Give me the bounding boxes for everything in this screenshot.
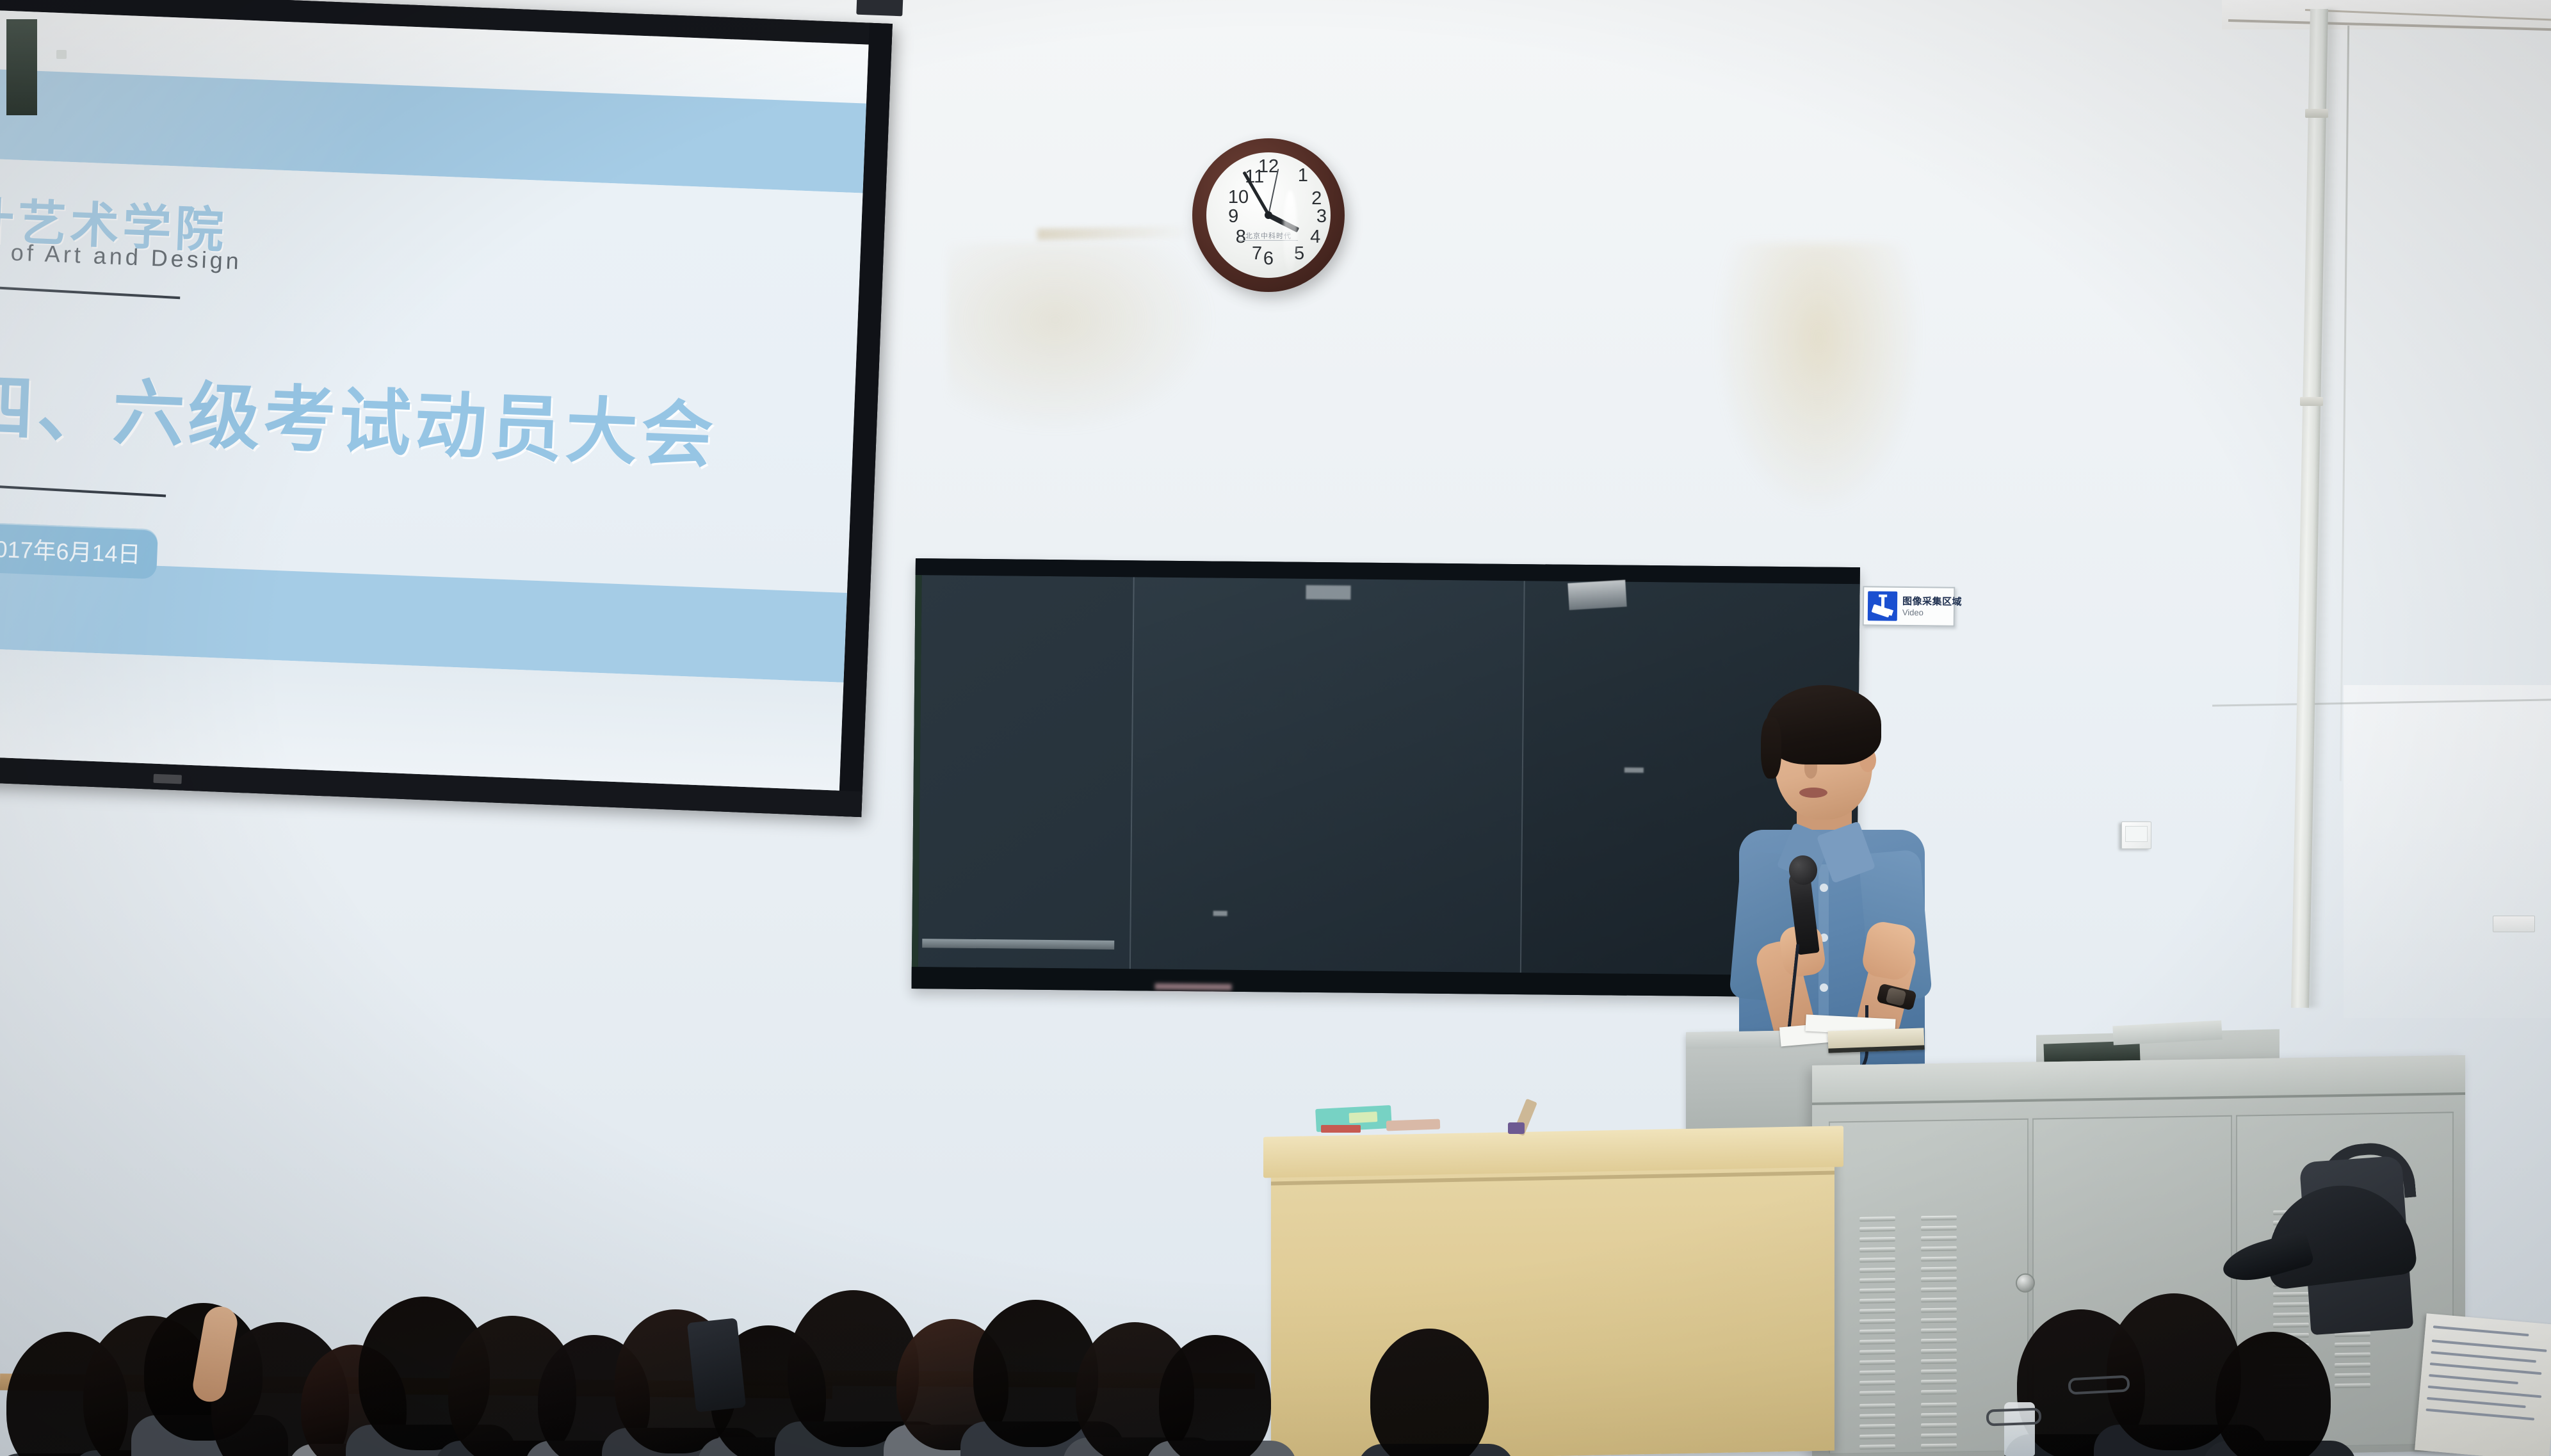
chalk-stick bbox=[1386, 1119, 1441, 1131]
clock-numeral-9: 9 bbox=[1222, 207, 1244, 226]
blackboard-chalk-smudge-c bbox=[1213, 910, 1227, 916]
blue-eraser bbox=[1508, 1122, 1525, 1134]
blackboard-panel-middle[interactable] bbox=[1130, 577, 1524, 973]
eyeglasses-icon-secondary bbox=[1986, 1408, 2042, 1427]
screen-brand-logo bbox=[153, 774, 182, 784]
audience-rows bbox=[0, 1172, 2551, 1456]
speaker-hair-side bbox=[1761, 717, 1781, 779]
blackboard-chalk-smudge-b bbox=[1624, 768, 1644, 773]
speaker-hair bbox=[1766, 685, 1881, 764]
audience-member-head bbox=[1370, 1329, 1489, 1456]
clock-numeral-2: 2 bbox=[1306, 190, 1327, 208]
clock-numeral-7: 7 bbox=[1246, 245, 1268, 263]
projector-screen: 设计艺术学院 School of Art and Design 语四、六级考试动… bbox=[0, 0, 893, 817]
audience-member-head bbox=[1159, 1335, 1271, 1456]
speaker-mouth bbox=[1799, 788, 1827, 798]
podium-open-book bbox=[1827, 1028, 1924, 1053]
clock-numeral-1: 1 bbox=[1292, 166, 1314, 185]
lectern-supplies bbox=[1316, 1103, 1585, 1134]
wall-outlet-face bbox=[2125, 826, 2148, 842]
wall-clock: 12 1 2 3 4 5 6 7 8 9 10 11 北京中科时代 bbox=[1192, 138, 1345, 292]
video-sign-label-en: Video bbox=[1902, 608, 1962, 617]
projected-slide: 设计艺术学院 School of Art and Design 语四、六级考试动… bbox=[0, 9, 869, 791]
wall-panel-patch bbox=[2344, 685, 2551, 1018]
slide-date-badge: 2017年6月14日 bbox=[0, 522, 158, 579]
blackboard-chalk-smudge-a bbox=[1306, 585, 1350, 600]
pipe-clip-lower bbox=[2300, 397, 2323, 406]
mobile-phone[interactable] bbox=[687, 1318, 746, 1412]
red-marker bbox=[1321, 1125, 1361, 1133]
blackboard-tape-patch bbox=[1567, 580, 1626, 610]
blackboard-surface bbox=[918, 575, 1860, 976]
chalk-tray bbox=[922, 939, 1114, 950]
lecture-hall-scene: 设计艺术学院 School of Art and Design 语四、六级考试动… bbox=[0, 0, 2551, 1456]
clock-numeral-10: 10 bbox=[1227, 188, 1249, 207]
pipe-clip-upper bbox=[2305, 109, 2328, 118]
wall-stain bbox=[948, 243, 1217, 435]
handout-sheet bbox=[2415, 1313, 2551, 1456]
av-cabinet-label-plate bbox=[56, 50, 67, 59]
wall-outlet[interactable] bbox=[2121, 821, 2151, 849]
clock-pivot bbox=[1265, 211, 1272, 219]
av-cabinet-left-opening bbox=[6, 19, 37, 115]
clock-numeral-3: 3 bbox=[1311, 207, 1331, 226]
speaker-presenter bbox=[1722, 672, 1940, 1069]
wall-stain-secondary bbox=[1716, 243, 1921, 512]
clock-face: 12 1 2 3 4 5 6 7 8 9 10 11 北京中科时代 bbox=[1206, 152, 1331, 278]
chalk-dust bbox=[1155, 983, 1232, 991]
wall-outlet-right[interactable] bbox=[2493, 916, 2535, 932]
screen-roller-bracket bbox=[856, 0, 903, 16]
video-sign-label-cn: 图像采集区域 bbox=[1902, 596, 1962, 606]
clock-numeral-4: 4 bbox=[1304, 228, 1326, 247]
eyeglasses-icon bbox=[2068, 1375, 2130, 1395]
video-surveillance-sign: 图像采集区域 Video bbox=[1863, 586, 1956, 627]
shirt-button-1 bbox=[1820, 884, 1828, 892]
blackboard bbox=[912, 558, 1860, 998]
cctv-camera-icon bbox=[1868, 591, 1897, 620]
audience-member-head bbox=[2215, 1332, 2331, 1456]
